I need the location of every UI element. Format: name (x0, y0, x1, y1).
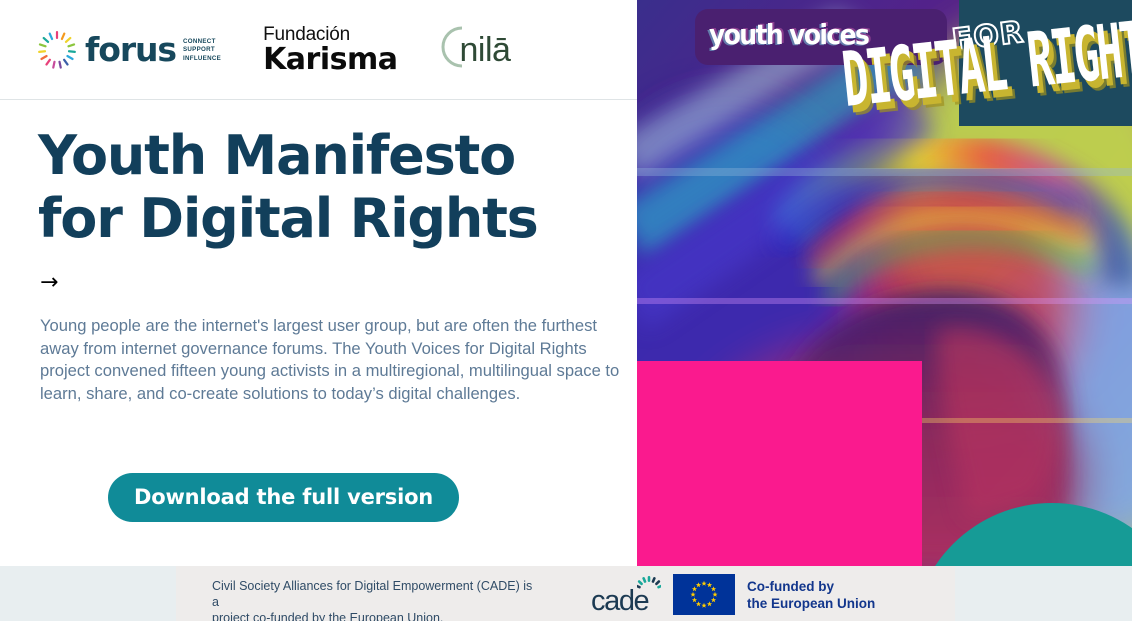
partner-logo-bar: forus CONNECT SUPPORT INFLUENCE Fundació… (0, 0, 637, 100)
nila-logo[interactable]: nilā (438, 25, 511, 74)
logo-group: forus CONNECT SUPPORT INFLUENCE Fundació… (0, 25, 510, 75)
eu-funding-label: Co-funded by the European Union (747, 578, 875, 612)
footer: Civil Society Alliances for Digital Empo… (0, 566, 1132, 621)
forus-wordmark: forus (85, 33, 176, 66)
forus-tagline-line-2: SUPPORT (183, 46, 215, 53)
karisma-logo-line-1: Fundación (263, 25, 397, 44)
cade-logo[interactable]: cade (591, 575, 671, 613)
forus-tagline-line-1: CONNECT (183, 38, 216, 45)
intro-paragraph: Young people are the internet's largest … (40, 315, 630, 405)
footer-inner-band: Civil Society Alliances for Digital Empo… (176, 566, 955, 621)
right-arrow-icon: → (40, 272, 58, 294)
page-title-line-1: Youth Manifesto (38, 124, 515, 187)
eu-funding-block: Co-funded by the European Union (673, 574, 875, 615)
eu-funding-label-line-2: the European Union (747, 596, 875, 611)
page-title-line-2: for Digital Rights (38, 187, 538, 250)
hero-banner: youth voices FOR DIGITAL RIGHTS (637, 0, 1132, 566)
download-full-version-button[interactable]: Download the full version (108, 473, 459, 522)
forus-logo[interactable]: forus CONNECT SUPPORT INFLUENCE (36, 29, 221, 71)
european-union-flag-icon (673, 574, 735, 615)
hero-pink-rectangle (637, 361, 922, 566)
landing-page: forus CONNECT SUPPORT INFLUENCE Fundació… (0, 0, 1132, 621)
left-content-column: forus CONNECT SUPPORT INFLUENCE Fundació… (0, 0, 637, 566)
cade-wordmark: cade (591, 587, 648, 616)
eu-funding-label-line-1: Co-funded by (747, 579, 834, 594)
fundacion-karisma-logo[interactable]: Fundación Karisma (263, 25, 397, 75)
page-title: Youth Manifesto for Digital Rights (38, 125, 618, 250)
forus-tagline: CONNECT SUPPORT INFLUENCE (183, 36, 221, 63)
footer-funding-text-line-2: project co-funded by the European Union. (212, 611, 443, 621)
footer-funding-text: Civil Society Alliances for Digital Empo… (212, 578, 542, 621)
forus-burst-icon (36, 29, 78, 71)
nila-wordmark: nilā (460, 33, 511, 67)
karisma-logo-line-2: Karisma (263, 45, 397, 75)
forus-tagline-line-3: INFLUENCE (183, 55, 221, 62)
footer-funding-text-line-1: Civil Society Alliances for Digital Empo… (212, 579, 532, 609)
